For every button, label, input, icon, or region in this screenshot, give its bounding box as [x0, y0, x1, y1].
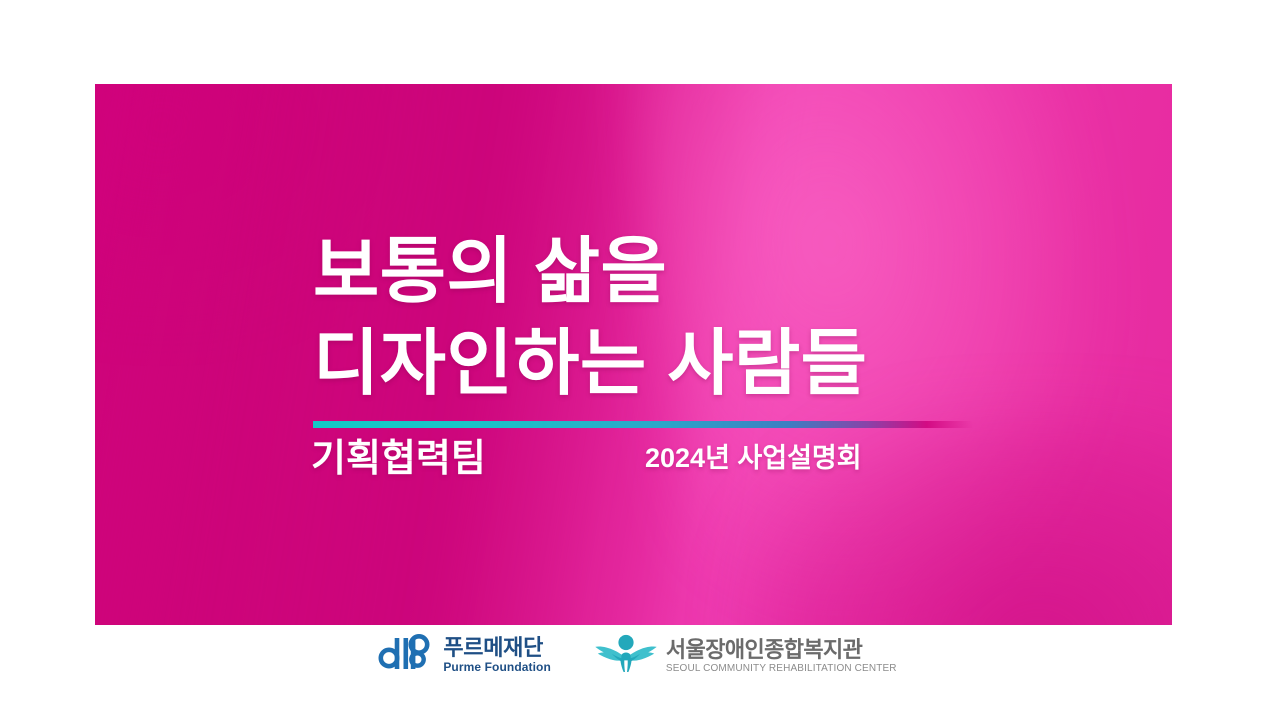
purme-foundation-logo-icon: [378, 632, 434, 677]
scrc-name-ko: 서울장애인종합복지관: [666, 637, 897, 662]
gradient-divider-rule: [313, 421, 973, 428]
slide-title: 보통의 삶을 디자인하는 사람들: [313, 226, 1073, 410]
title-line-2: 디자인하는 사람들: [313, 318, 1073, 410]
team-label: 기획협력팀: [311, 436, 486, 482]
purme-name-ko: 푸르메재단: [443, 635, 551, 660]
footer-logo-bar: 푸르메재단 Purme Foundation: [0, 632, 1275, 710]
title-line-1: 보통의 삶을: [313, 226, 1073, 318]
scrc-name-en: SEOUL COMMUNITY REHABILITATION CENTER: [666, 662, 897, 675]
slide-viewer: 보통의 삶을 디자인하는 사람들 기획협력팀 2024년 사업설명회: [0, 0, 1275, 715]
seoul-community-rehabilitation-center-logo-icon: [595, 632, 657, 679]
scrc-logo-text: 서울장애인종합복지관 SEOUL COMMUNITY REHABILITATIO…: [666, 637, 897, 675]
title-slide: 보통의 삶을 디자인하는 사람들 기획협력팀 2024년 사업설명회: [95, 84, 1172, 625]
subtitle-row: 기획협력팀 2024년 사업설명회: [311, 436, 1071, 484]
event-label: 2024년 사업설명회: [645, 441, 862, 475]
logo-purme-foundation: 푸르메재단 Purme Foundation: [378, 632, 551, 677]
purme-name-en: Purme Foundation: [443, 660, 551, 675]
logo-seoul-community-rehabilitation-center: 서울장애인종합복지관 SEOUL COMMUNITY REHABILITATIO…: [595, 632, 897, 679]
purme-foundation-logo-text: 푸르메재단 Purme Foundation: [443, 635, 551, 675]
